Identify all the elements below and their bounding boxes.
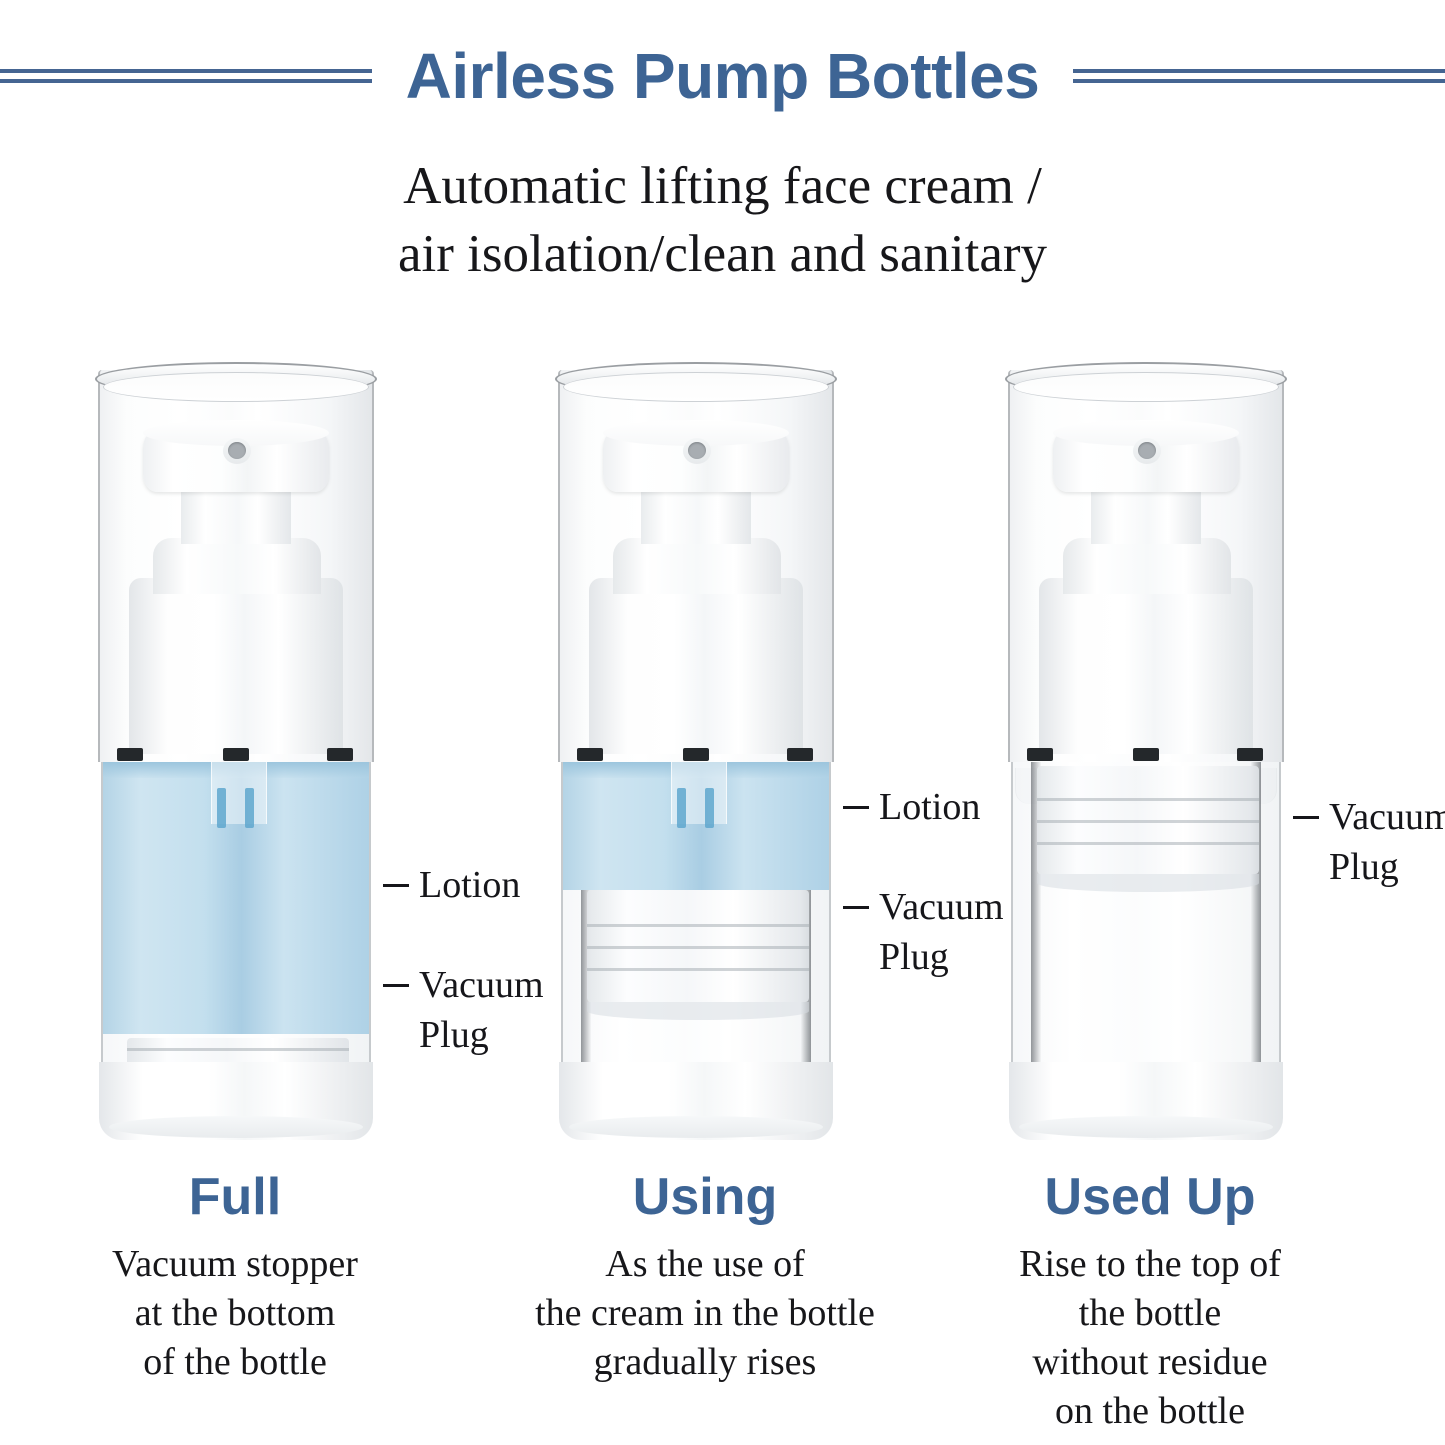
bottle-graphic xyxy=(555,362,837,1144)
collar-segment xyxy=(577,748,603,761)
callout-label: Vacuum Plug xyxy=(419,960,544,1060)
bottle-base-bottom xyxy=(109,1116,363,1138)
callout-leader xyxy=(843,806,869,809)
pump-body xyxy=(129,578,343,754)
callout-vacuum-plug: Vacuum Plug xyxy=(843,882,1004,982)
caption-using: Using As the use of the cream in the bot… xyxy=(485,1166,925,1387)
bottle-used-up: Vacuum Plug xyxy=(1005,362,1287,1144)
nozzle-hole-icon xyxy=(688,442,706,459)
bottle-graphic xyxy=(1005,362,1287,1144)
callout-lotion: Lotion xyxy=(383,860,520,910)
plug-band xyxy=(587,968,809,971)
plug-band xyxy=(587,946,809,949)
caption-heading: Used Up xyxy=(930,1166,1370,1228)
collar-segment xyxy=(1237,748,1263,761)
bottle-graphic xyxy=(95,362,377,1144)
bottle-base-bottom xyxy=(1019,1116,1273,1138)
cap-rim-inner xyxy=(103,372,369,402)
collar-segment xyxy=(117,748,143,761)
pump-shoulder xyxy=(153,538,321,594)
dip-tube-slot xyxy=(677,788,686,828)
pump-shoulder xyxy=(1063,538,1231,594)
caption-used-up: Used Up Rise to the top of the bottle wi… xyxy=(930,1166,1370,1436)
bottle-using: Lotion Vacuum Plug xyxy=(555,362,837,1144)
collar-segment xyxy=(1027,748,1053,761)
plug-shadow xyxy=(1037,874,1259,892)
bottle-base-bottom xyxy=(569,1116,823,1138)
callout-leader xyxy=(383,984,409,987)
caption-heading: Using xyxy=(485,1166,925,1228)
collar-segment xyxy=(1133,748,1159,761)
callout-leader xyxy=(383,884,409,887)
infographic-page: Airless Pump Bottles Automatic lifting f… xyxy=(0,0,1445,1445)
callout-label: Lotion xyxy=(419,860,520,910)
callout-lotion: Lotion xyxy=(843,782,980,832)
callout-label: Lotion xyxy=(879,782,980,832)
pump-shoulder xyxy=(613,538,781,594)
dip-tube-slot xyxy=(245,788,254,828)
callout-vacuum-plug: Vacuum Plug xyxy=(1293,792,1445,892)
nozzle-hole-icon xyxy=(1138,442,1156,459)
plug-band xyxy=(1037,820,1259,823)
pump-neck xyxy=(1091,484,1201,544)
dip-tube-slot xyxy=(217,788,226,828)
plug-band xyxy=(1037,842,1259,845)
pump-neck xyxy=(641,484,751,544)
callout-leader xyxy=(1293,816,1319,819)
callout-label: Vacuum Plug xyxy=(1329,792,1445,892)
collar-segment xyxy=(327,748,353,761)
lotion-chamber xyxy=(561,762,831,1080)
vacuum-plug xyxy=(1037,766,1259,874)
bottle-stage: Lotion Vacuum Plug xyxy=(0,0,1445,1445)
cap-rim-inner xyxy=(1013,372,1279,402)
collar-segment xyxy=(223,748,249,761)
plug-band xyxy=(587,924,809,927)
caption-text: Vacuum stopper at the bottom of the bott… xyxy=(15,1240,455,1387)
bottle-full: Lotion Vacuum Plug xyxy=(95,362,377,1144)
pump-body xyxy=(589,578,803,754)
caption-full: Full Vacuum stopper at the bottom of the… xyxy=(15,1166,455,1387)
callout-leader xyxy=(843,906,869,909)
plug-band xyxy=(1037,798,1259,801)
caption-heading: Full xyxy=(15,1166,455,1228)
callout-vacuum-plug: Vacuum Plug xyxy=(383,960,544,1060)
collar-segment xyxy=(683,748,709,761)
lotion-chamber xyxy=(1011,762,1281,1080)
pump-body xyxy=(1039,578,1253,754)
caption-text: As the use of the cream in the bottle gr… xyxy=(485,1240,925,1387)
caption-text: Rise to the top of the bottle without re… xyxy=(930,1240,1370,1436)
plug-band xyxy=(127,1048,349,1051)
vacuum-plug xyxy=(587,890,809,1002)
cap-rim-inner xyxy=(563,372,829,402)
callout-label: Vacuum Plug xyxy=(879,882,1004,982)
collar-segment xyxy=(787,748,813,761)
lotion-chamber xyxy=(101,762,371,1080)
pump-neck xyxy=(181,484,291,544)
dip-tube-slot xyxy=(705,788,714,828)
plug-shadow xyxy=(587,1002,809,1020)
nozzle-hole-icon xyxy=(228,442,246,459)
